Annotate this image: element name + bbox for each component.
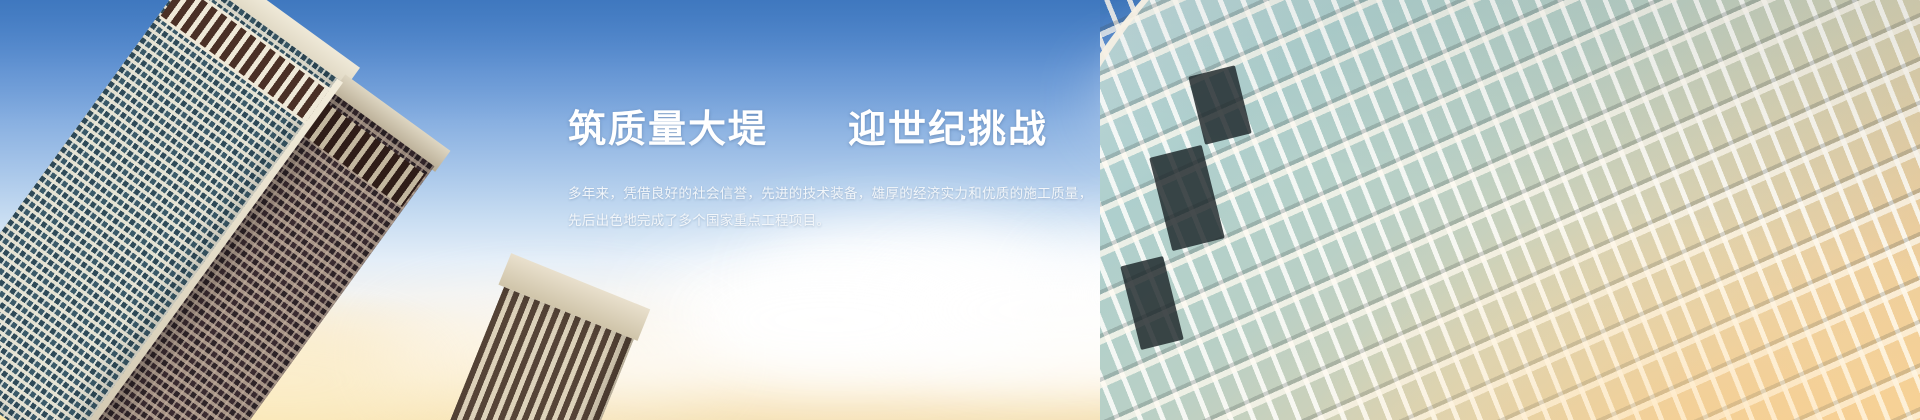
hero-banner: 筑质量大堤 迎世纪挑战 多年来，凭借良好的社会信誉，先进的技术装备，雄厚的经济实… xyxy=(0,0,1920,420)
glass-facade-surface xyxy=(1100,0,1920,420)
glass-shading xyxy=(1100,0,1920,420)
banner-subcopy: 多年来，凭借良好的社会信誉，先进的技术装备，雄厚的经济实力和优质的施工质量， 先… xyxy=(568,180,1128,234)
banner-subcopy-line-1: 多年来，凭借良好的社会信誉，先进的技术装备，雄厚的经济实力和优质的施工质量， xyxy=(568,180,1128,207)
banner-headline: 筑质量大堤 迎世纪挑战 xyxy=(568,108,1128,154)
right-glass-tower-image xyxy=(1100,0,1920,420)
banner-copy-block: 筑质量大堤 迎世纪挑战 多年来，凭借良好的社会信誉，先进的技术装备，雄厚的经济实… xyxy=(568,108,1128,234)
banner-subcopy-line-2: 先后出色地完成了多个国家重点工程项目。 xyxy=(568,207,1128,234)
